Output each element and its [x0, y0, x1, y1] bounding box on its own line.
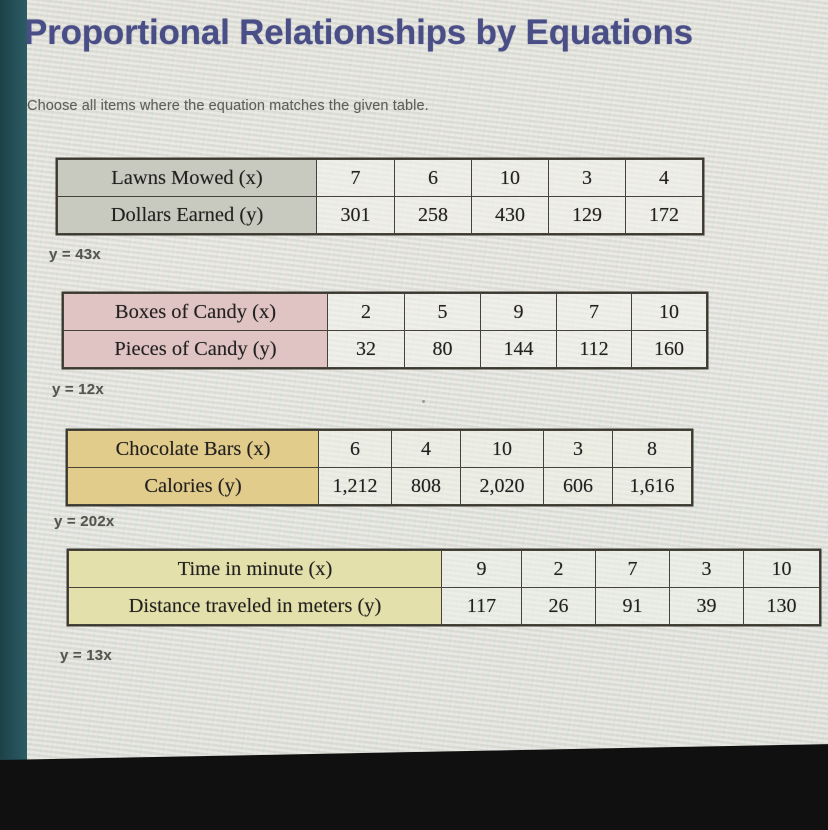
cell-y-4: 172	[626, 197, 703, 234]
cell-x-1: 6	[395, 160, 472, 197]
device-bezel-bottom	[0, 744, 828, 830]
cell-x-4: 10	[632, 294, 707, 331]
table-row: Chocolate Bars (x) 6 4 10 3 8	[68, 431, 692, 468]
page-title: Proportional Relationships by Equations	[27, 13, 693, 53]
table-row: Pieces of Candy (y) 32 80 144 112 160	[64, 331, 707, 368]
cell-y-1: 80	[405, 331, 481, 368]
table-time-distance: Time in minute (x) 9 2 7 3 10 Distance t…	[68, 550, 820, 625]
cell-y-0: 301	[317, 197, 395, 234]
equation-time-distance[interactable]: y = 13x	[60, 647, 112, 664]
dust-speck	[422, 400, 425, 403]
item-time-distance[interactable]: Time in minute (x) 9 2 7 3 10 Distance t…	[68, 550, 820, 625]
table-lawns-mowed: Lawns Mowed (x) 7 6 10 3 4 Dollars Earne…	[57, 159, 703, 234]
cell-y-0: 32	[328, 331, 405, 368]
table-row: Time in minute (x) 9 2 7 3 10	[69, 551, 820, 588]
cell-y-4: 160	[632, 331, 707, 368]
cell-x-4: 4	[626, 160, 703, 197]
table-row: Distance traveled in meters (y) 117 26 9…	[69, 588, 820, 625]
instructions-text: Choose all items where the equation matc…	[27, 98, 429, 114]
cell-y-4: 1,616	[613, 468, 692, 505]
row-label-y: Distance traveled in meters (y)	[69, 588, 442, 625]
item-chocolate-bars[interactable]: Chocolate Bars (x) 6 4 10 3 8 Calories (…	[67, 430, 692, 505]
cell-y-2: 144	[481, 331, 557, 368]
item-boxes-of-candy[interactable]: Boxes of Candy (x) 2 5 9 7 10 Pieces of …	[63, 293, 707, 368]
row-label-y: Dollars Earned (y)	[58, 197, 317, 234]
cell-y-3: 606	[544, 468, 613, 505]
cell-y-1: 258	[395, 197, 472, 234]
cell-x-0: 9	[442, 551, 522, 588]
row-label-x: Chocolate Bars (x)	[68, 431, 319, 468]
row-label-y: Calories (y)	[68, 468, 319, 505]
cell-x-3: 3	[544, 431, 613, 468]
cell-x-1: 4	[392, 431, 461, 468]
table-row: Calories (y) 1,212 808 2,020 606 1,616	[68, 468, 692, 505]
cell-x-4: 8	[613, 431, 692, 468]
cell-y-0: 117	[442, 588, 522, 625]
cell-x-2: 9	[481, 294, 557, 331]
screen-area: Proportional Relationships by Equations …	[27, 0, 828, 768]
cell-y-3: 112	[557, 331, 632, 368]
device-bezel-left	[0, 0, 27, 764]
row-label-x: Lawns Mowed (x)	[58, 160, 317, 197]
table-row: Dollars Earned (y) 301 258 430 129 172	[58, 197, 703, 234]
cell-x-0: 6	[319, 431, 392, 468]
cell-x-1: 2	[522, 551, 596, 588]
cell-y-2: 91	[596, 588, 670, 625]
equation-chocolate-bars[interactable]: y = 202x	[54, 513, 114, 530]
cell-y-3: 39	[670, 588, 744, 625]
table-boxes-of-candy: Boxes of Candy (x) 2 5 9 7 10 Pieces of …	[63, 293, 707, 368]
photo-of-screen: Proportional Relationships by Equations …	[0, 0, 828, 830]
cell-y-2: 430	[472, 197, 549, 234]
cell-x-0: 2	[328, 294, 405, 331]
cell-y-4: 130	[744, 588, 820, 625]
cell-y-1: 26	[522, 588, 596, 625]
row-label-x: Time in minute (x)	[69, 551, 442, 588]
cell-x-1: 5	[405, 294, 481, 331]
cell-x-2: 10	[472, 160, 549, 197]
row-label-x: Boxes of Candy (x)	[64, 294, 328, 331]
cell-x-3: 7	[557, 294, 632, 331]
cell-x-2: 7	[596, 551, 670, 588]
cell-x-0: 7	[317, 160, 395, 197]
cell-y-2: 2,020	[461, 468, 544, 505]
equation-lawns-mowed[interactable]: y = 43x	[49, 246, 101, 263]
table-row: Boxes of Candy (x) 2 5 9 7 10	[64, 294, 707, 331]
cell-y-1: 808	[392, 468, 461, 505]
cell-x-4: 10	[744, 551, 820, 588]
table-chocolate-bars: Chocolate Bars (x) 6 4 10 3 8 Calories (…	[67, 430, 692, 505]
cell-x-3: 3	[670, 551, 744, 588]
cell-x-2: 10	[461, 431, 544, 468]
equation-boxes-of-candy[interactable]: y = 12x	[52, 381, 104, 398]
cell-x-3: 3	[549, 160, 626, 197]
cell-y-0: 1,212	[319, 468, 392, 505]
item-lawns-mowed[interactable]: Lawns Mowed (x) 7 6 10 3 4 Dollars Earne…	[57, 159, 703, 234]
cell-y-3: 129	[549, 197, 626, 234]
table-row: Lawns Mowed (x) 7 6 10 3 4	[58, 160, 703, 197]
row-label-y: Pieces of Candy (y)	[64, 331, 328, 368]
